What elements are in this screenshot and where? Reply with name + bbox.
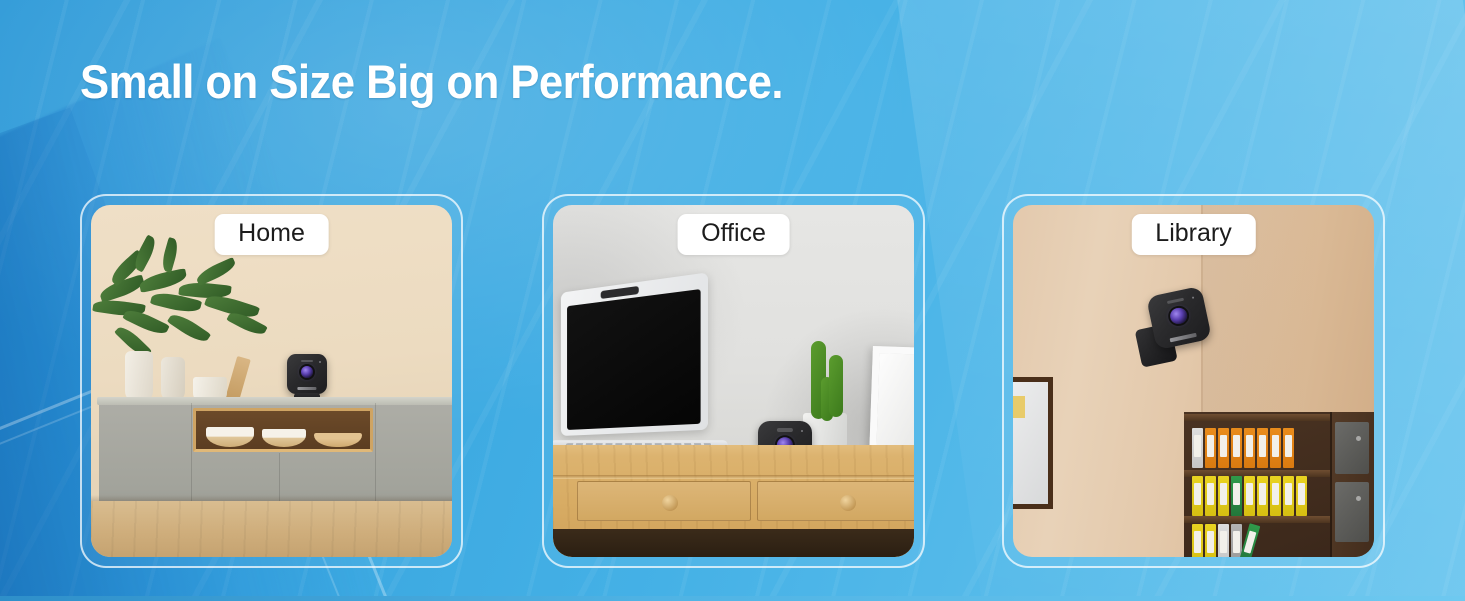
wooden-bowl: [314, 433, 362, 447]
desk-drawer[interactable]: [577, 481, 751, 521]
binder: [1296, 476, 1307, 516]
laptop-lid: [561, 272, 708, 436]
cactus-stem: [829, 355, 843, 417]
laptop-device: [553, 283, 729, 461]
drawer-knob: [662, 495, 678, 511]
wooden-bowl: [262, 429, 306, 447]
sticky-note: [1013, 396, 1025, 418]
wooden-bowl: [206, 427, 254, 447]
binder: [1283, 476, 1294, 516]
card-label-home: Home: [214, 214, 329, 255]
framed-whiteboard: [1013, 377, 1053, 509]
binder: [1192, 476, 1203, 516]
wooden-desk: [553, 445, 914, 557]
desk-drawer[interactable]: [757, 481, 914, 521]
promo-banner: Small on Size Big on Performance.: [0, 0, 1465, 601]
camera-lens-icon: [1169, 306, 1189, 325]
binder: [1192, 524, 1203, 557]
binder: [1218, 476, 1229, 516]
binder-row: [1192, 428, 1294, 468]
scene-photo-library: Library: [1013, 205, 1374, 557]
binder: [1257, 476, 1268, 516]
potted-plant-foliage: [93, 243, 269, 361]
picture-frame-prop: [869, 346, 914, 458]
bookshelf-side-cabinet: [1330, 412, 1374, 557]
binder: [1257, 428, 1268, 468]
scene-card-office[interactable]: Office: [542, 194, 925, 568]
scene-photo-home: Home: [91, 205, 452, 557]
scene-photo-office: Office: [553, 205, 914, 557]
camera-status-led-icon: [319, 361, 321, 363]
sideboard-top-surface: [97, 397, 452, 405]
camera-brand-logo: [297, 387, 316, 390]
binder: [1270, 476, 1281, 516]
binder: [1205, 476, 1216, 516]
camera-lens-icon: [301, 366, 313, 378]
drawer-knob: [840, 495, 856, 511]
binder: [1205, 428, 1216, 468]
bookshelf: [1184, 412, 1374, 557]
camera-speaker-grille-icon: [1167, 297, 1184, 304]
vase-tall: [125, 351, 153, 403]
laptop-screen: [567, 289, 701, 430]
cabinet-panel: [1335, 422, 1369, 474]
camera-body: [1146, 286, 1212, 350]
binder: [1231, 428, 1242, 468]
binder-row: [1192, 524, 1255, 557]
card-label-library: Library: [1131, 214, 1255, 255]
desk-front-edge: [553, 475, 914, 479]
cabinet-panel: [1335, 482, 1369, 542]
camera-status-led-icon: [1192, 297, 1195, 300]
binder: [1205, 524, 1216, 557]
binder: [1218, 524, 1229, 557]
wood-floor: [91, 501, 452, 557]
mini-camera-device[interactable]: [1146, 286, 1212, 350]
scene-card-row: Home: [0, 194, 1465, 569]
scene-card-library[interactable]: Library: [1002, 194, 1385, 568]
wood-board-prop: [225, 356, 251, 402]
binder: [1244, 476, 1255, 516]
desk-under-shadow: [553, 529, 914, 557]
camera-speaker-grille-icon: [301, 360, 313, 363]
binder: [1283, 428, 1294, 468]
binder-row: [1192, 476, 1307, 516]
binder: [1231, 476, 1242, 516]
sideboard-open-shelf: [193, 408, 373, 452]
cabinet-knob: [1356, 436, 1361, 441]
camera-body: [287, 354, 327, 394]
binder: [1218, 428, 1229, 468]
page-title: Small on Size Big on Performance.: [80, 55, 783, 109]
scene-card-home[interactable]: Home: [80, 194, 463, 568]
mini-camera-device[interactable]: [287, 354, 327, 394]
binder: [1244, 428, 1255, 468]
binder: [1270, 428, 1281, 468]
card-label-office: Office: [677, 214, 790, 255]
binder: [1192, 428, 1203, 468]
shelf-board: [1184, 516, 1332, 523]
camera-status-led-icon: [801, 430, 803, 432]
camera-brand-logo: [1170, 333, 1197, 343]
cabinet-knob: [1356, 496, 1361, 501]
camera-speaker-grille-icon: [777, 428, 793, 432]
background-bottom-edge: [0, 596, 1465, 601]
